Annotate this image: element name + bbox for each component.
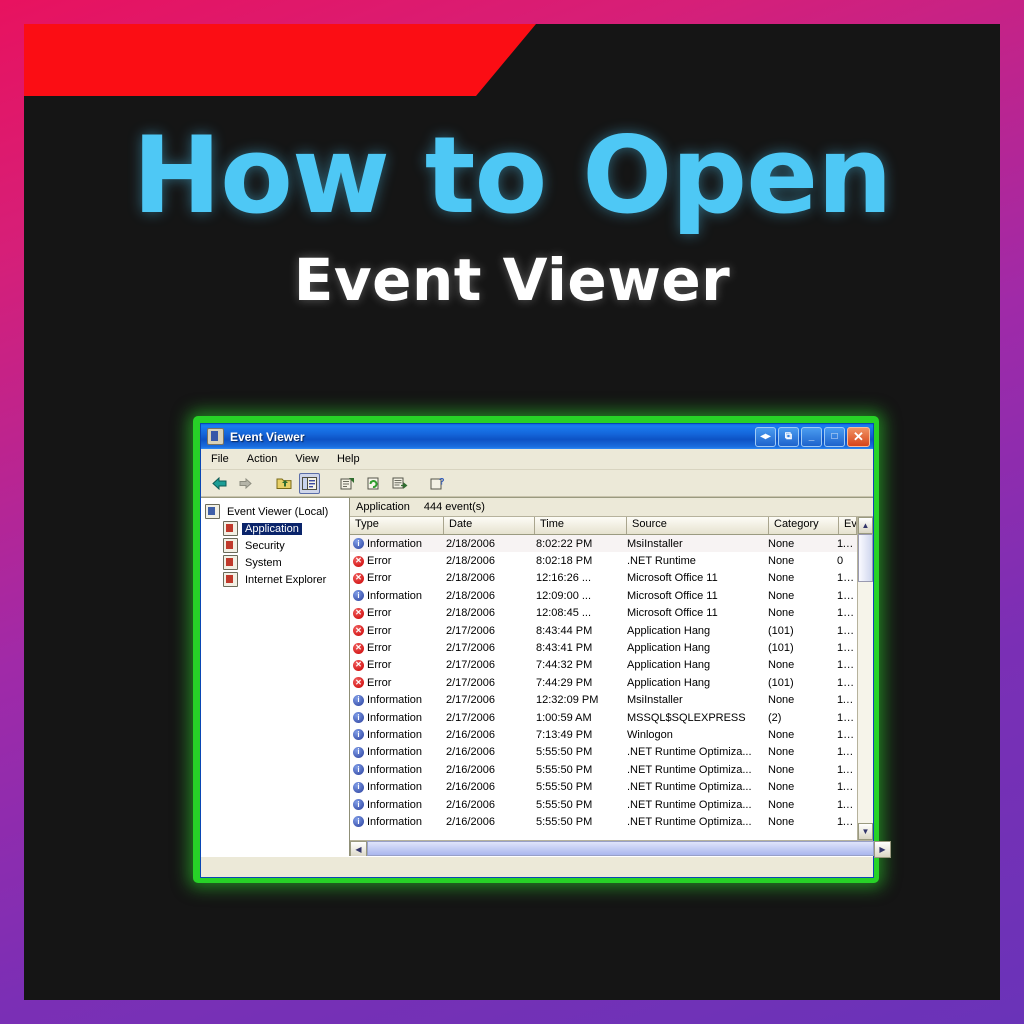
cell-time: 7:44:32 PM	[531, 659, 622, 671]
cell-source: MSSQL$SQLEXPRESS	[622, 712, 763, 724]
log-icon	[223, 538, 238, 553]
cell-event: 1002	[832, 625, 857, 637]
error-icon: ✕	[353, 643, 364, 654]
cell-time: 8:43:44 PM	[531, 625, 622, 637]
cell-event: 1001	[832, 590, 857, 602]
poster-inner-panel: Multicaretechnical.com How to Open Event…	[24, 24, 1000, 1000]
cell-category: None	[763, 590, 832, 602]
cell-category: None	[763, 799, 832, 811]
cell-source: Winlogon	[622, 729, 763, 741]
window-titlebar[interactable]: Event Viewer ◂▸ ⧉ _ □ ✕	[201, 424, 873, 449]
cell-date: 2/17/2006	[441, 642, 531, 654]
vertical-scroll-thumb[interactable]	[858, 534, 873, 582]
table-row[interactable]: iInformation2/16/20065:55:50 PM.NET Runt…	[350, 744, 857, 761]
error-icon: ✕	[353, 573, 364, 584]
cell-source: .NET Runtime Optimiza...	[622, 781, 763, 793]
cell-category: None	[763, 607, 832, 619]
cell-time: 5:55:50 PM	[531, 799, 622, 811]
cell-event: 1001	[832, 659, 857, 671]
forward-arrow-icon	[235, 473, 256, 494]
column-header-type[interactable]: Type	[350, 517, 444, 534]
cell-type-label: Error	[367, 677, 391, 689]
cell-type-label: Information	[367, 590, 422, 602]
cell-event: 1102	[832, 764, 857, 776]
cell-source: .NET Runtime Optimiza...	[622, 799, 763, 811]
column-header-date[interactable]: Date	[444, 517, 535, 534]
cell-category: (101)	[763, 642, 832, 654]
cell-type-label: Information	[367, 712, 422, 724]
cell-time: 5:55:50 PM	[531, 781, 622, 793]
cell-type: iInformation	[350, 746, 441, 758]
information-icon: i	[353, 695, 364, 706]
cell-source: Application Hang	[622, 677, 763, 689]
svg-text:?: ?	[439, 477, 445, 487]
menu-item-view[interactable]: View	[295, 453, 319, 465]
scroll-right-arrow-icon[interactable]: ▶	[874, 841, 891, 858]
cell-event: 1102	[832, 799, 857, 811]
cell-type-label: Information	[367, 781, 422, 793]
cell-time: 12:08:45 ...	[531, 607, 622, 619]
show-tree-icon[interactable]	[299, 473, 320, 494]
cell-source: MsiInstaller	[622, 538, 763, 550]
error-icon: ✕	[353, 608, 364, 619]
menu-item-help[interactable]: Help	[337, 453, 360, 465]
cell-time: 12:09:00 ...	[531, 590, 622, 602]
table-row[interactable]: iInformation2/16/20065:55:50 PM.NET Runt…	[350, 813, 857, 830]
cell-date: 2/17/2006	[441, 712, 531, 724]
console-root-icon	[205, 504, 220, 519]
table-row[interactable]: iInformation2/16/20067:13:49 PMWinlogonN…	[350, 726, 857, 743]
cell-event: 1000	[832, 607, 857, 619]
list-with-scrollbar: Type Date Time Source Category Event iIn…	[350, 517, 873, 840]
restore-child-button[interactable]: ◂▸	[755, 427, 776, 447]
cell-date: 2/18/2006	[441, 572, 531, 584]
cell-type: ✕Error	[350, 607, 441, 619]
cell-source: .NET Runtime Optimiza...	[622, 764, 763, 776]
column-header-event[interactable]: Event	[839, 517, 857, 534]
cell-date: 2/16/2006	[441, 746, 531, 758]
menu-item-action[interactable]: Action	[247, 453, 278, 465]
cell-source: Microsoft Office 11	[622, 572, 763, 584]
scroll-up-arrow-icon[interactable]: ▲	[858, 517, 873, 534]
cell-category: None	[763, 746, 832, 758]
cell-type: iInformation	[350, 538, 441, 550]
cell-source: Microsoft Office 11	[622, 607, 763, 619]
console-tree: Event Viewer (Local) Application Securit…	[201, 498, 350, 856]
list-caption-count: 444 event(s)	[424, 501, 485, 513]
cell-event: 17403	[832, 712, 857, 724]
cell-category: (101)	[763, 625, 832, 637]
cell-source: Application Hang	[622, 642, 763, 654]
cell-type: iInformation	[350, 816, 441, 828]
table-row[interactable]: iInformation2/18/20068:02:22 PMMsiInstal…	[350, 535, 857, 552]
table-row[interactable]: ✕Error2/17/20067:44:29 PMApplication Han…	[350, 674, 857, 691]
table-row[interactable]: iInformation2/17/20061:00:59 AMMSSQL$SQL…	[350, 709, 857, 726]
cell-type: ✕Error	[350, 642, 441, 654]
page-title: How to Open	[24, 120, 1000, 231]
cell-time: 12:32:09 PM	[531, 694, 622, 706]
cell-date: 2/16/2006	[441, 816, 531, 828]
status-bar	[201, 856, 873, 877]
close-button[interactable]: ✕	[847, 427, 870, 447]
cell-type-label: Error	[367, 625, 391, 637]
cell-category: None	[763, 538, 832, 550]
maximize-button[interactable]: □	[824, 427, 845, 447]
event-rows: iInformation2/18/20068:02:22 PMMsiInstal…	[350, 535, 857, 840]
cell-type-label: Error	[367, 572, 391, 584]
cell-type: iInformation	[350, 694, 441, 706]
table-row[interactable]: ✕Error2/17/20068:43:41 PMApplication Han…	[350, 639, 857, 656]
cell-date: 2/16/2006	[441, 729, 531, 741]
horizontal-scroll-thumb[interactable]	[367, 841, 874, 856]
menu-bar: File Action View Help	[201, 449, 873, 470]
cell-source: Microsoft Office 11	[622, 590, 763, 602]
vertical-scrollbar[interactable]: ▲ ▼	[857, 517, 873, 840]
properties-icon[interactable]	[337, 473, 358, 494]
cell-event: 1002	[832, 729, 857, 741]
table-row[interactable]: ✕Error2/17/20068:43:44 PMApplication Han…	[350, 622, 857, 639]
cell-type-label: Information	[367, 816, 422, 828]
cell-source: .NET Runtime Optimiza...	[622, 816, 763, 828]
cell-type-label: Information	[367, 729, 422, 741]
cell-category: None	[763, 781, 832, 793]
cell-type-label: Information	[367, 799, 422, 811]
help-icon[interactable]: ?	[427, 473, 448, 494]
cell-type-label: Error	[367, 659, 391, 671]
tree-node-security-label: Security	[242, 540, 288, 552]
refresh-icon[interactable]	[363, 473, 384, 494]
table-row[interactable]: ✕Error2/18/20068:02:18 PM.NET RuntimeNon…	[350, 552, 857, 569]
cell-time: 5:55:50 PM	[531, 816, 622, 828]
cell-type-label: Information	[367, 746, 422, 758]
error-icon: ✕	[353, 677, 364, 688]
cell-event: 1000	[832, 572, 857, 584]
cell-event: 1002	[832, 677, 857, 689]
cell-category: None	[763, 694, 832, 706]
cell-source: .NET Runtime	[622, 555, 763, 567]
site-banner	[24, 24, 536, 96]
tree-node-system[interactable]: System	[205, 554, 349, 571]
cell-date: 2/17/2006	[441, 677, 531, 689]
back-arrow-icon[interactable]	[209, 473, 230, 494]
cell-date: 2/17/2006	[441, 625, 531, 637]
cell-category: (101)	[763, 677, 832, 689]
information-icon: i	[353, 538, 364, 549]
vertical-scroll-track[interactable]	[858, 582, 873, 823]
toolbar: ?	[201, 470, 873, 497]
column-header-source[interactable]: Source	[627, 517, 769, 534]
cell-event: 11728	[832, 538, 857, 550]
cell-type-label: Information	[367, 764, 422, 776]
information-icon: i	[353, 747, 364, 758]
log-icon	[223, 572, 238, 587]
information-icon: i	[353, 712, 364, 723]
cell-date: 2/16/2006	[441, 764, 531, 776]
cell-event: 1104	[832, 746, 857, 758]
cell-event: 1100	[832, 816, 857, 828]
cell-source: .NET Runtime Optimiza...	[622, 746, 763, 758]
cell-event: 11707	[832, 694, 857, 706]
column-header-row: Type Date Time Source Category Event	[350, 517, 857, 535]
cell-time: 1:00:59 AM	[531, 712, 622, 724]
information-icon: i	[353, 782, 364, 793]
table-row[interactable]: ✕Error2/17/20067:44:32 PMApplication Han…	[350, 657, 857, 674]
cell-date: 2/18/2006	[441, 555, 531, 567]
error-icon: ✕	[353, 660, 364, 671]
cell-category: (2)	[763, 712, 832, 724]
event-list-pane: Application 444 event(s) Type Date Time …	[350, 498, 873, 856]
cell-event: 1002	[832, 642, 857, 654]
page-subtitle: Event Viewer	[24, 246, 1000, 314]
information-icon: i	[353, 799, 364, 810]
cell-date: 2/17/2006	[441, 694, 531, 706]
window-body: Event Viewer (Local) Application Securit…	[201, 497, 873, 856]
cell-type: iInformation	[350, 729, 441, 741]
event-viewer-window: Event Viewer ◂▸ ⧉ _ □ ✕ File Action View…	[200, 423, 874, 878]
window-controls: ◂▸ ⧉ _ □ ✕	[755, 427, 870, 447]
cell-date: 2/16/2006	[441, 781, 531, 793]
cell-type-label: Error	[367, 607, 391, 619]
cell-time: 8:02:18 PM	[531, 555, 622, 567]
information-icon: i	[353, 764, 364, 775]
tree-node-internet-explorer[interactable]: Internet Explorer	[205, 571, 349, 588]
tree-node-root[interactable]: Event Viewer (Local)	[205, 503, 349, 520]
cell-type: iInformation	[350, 799, 441, 811]
cell-source: Application Hang	[622, 659, 763, 671]
cell-time: 7:13:49 PM	[531, 729, 622, 741]
cell-time: 8:43:41 PM	[531, 642, 622, 654]
cell-category: None	[763, 555, 832, 567]
cell-type: iInformation	[350, 764, 441, 776]
cell-type-label: Error	[367, 555, 391, 567]
cell-time: 7:44:29 PM	[531, 677, 622, 689]
information-icon: i	[353, 590, 364, 601]
tree-node-security[interactable]: Security	[205, 537, 349, 554]
cell-time: 8:02:22 PM	[531, 538, 622, 550]
cell-type-label: Information	[367, 538, 422, 550]
tree-node-root-label: Event Viewer (Local)	[224, 506, 331, 518]
table-row[interactable]: ✕Error2/18/200612:16:26 ...Microsoft Off…	[350, 570, 857, 587]
cell-type-label: Information	[367, 694, 422, 706]
cell-type: ✕Error	[350, 677, 441, 689]
cell-type: ✕Error	[350, 555, 441, 567]
cell-category: None	[763, 764, 832, 776]
cell-date: 2/18/2006	[441, 607, 531, 619]
cell-time: 12:16:26 ...	[531, 572, 622, 584]
cell-type: iInformation	[350, 781, 441, 793]
list-caption-name: Application	[356, 501, 410, 513]
table-row[interactable]: iInformation2/16/20065:55:50 PM.NET Runt…	[350, 761, 857, 778]
cell-time: 5:55:50 PM	[531, 746, 622, 758]
log-icon	[223, 555, 238, 570]
cell-category: None	[763, 729, 832, 741]
cell-date: 2/16/2006	[441, 799, 531, 811]
minimize-button[interactable]: _	[801, 427, 822, 447]
cell-event: 1100	[832, 781, 857, 793]
cell-type: ✕Error	[350, 572, 441, 584]
cell-source: Application Hang	[622, 625, 763, 637]
cell-type-label: Error	[367, 642, 391, 654]
error-icon: ✕	[353, 556, 364, 567]
cell-event: 0	[832, 555, 857, 567]
error-icon: ✕	[353, 625, 364, 636]
cell-date: 2/18/2006	[441, 538, 531, 550]
cell-category: None	[763, 659, 832, 671]
information-icon: i	[353, 729, 364, 740]
information-icon: i	[353, 816, 364, 827]
cell-category: None	[763, 816, 832, 828]
horizontal-scrollbar[interactable]: ◀ ▶	[350, 840, 873, 856]
tree-node-system-label: System	[242, 557, 285, 569]
cell-time: 5:55:50 PM	[531, 764, 622, 776]
window-title: Event Viewer	[230, 430, 304, 444]
cell-type: ✕Error	[350, 659, 441, 671]
scroll-down-arrow-icon[interactable]: ▼	[858, 823, 873, 840]
cell-type: iInformation	[350, 712, 441, 724]
tree-node-internet-explorer-label: Internet Explorer	[242, 574, 329, 586]
cell-category: None	[763, 572, 832, 584]
tree-node-application[interactable]: Application	[205, 520, 349, 537]
table-row[interactable]: ✕Error2/18/200612:08:45 ...Microsoft Off…	[350, 605, 857, 622]
tree-node-application-label: Application	[242, 523, 302, 535]
table-row[interactable]: iInformation2/18/200612:09:00 ...Microso…	[350, 587, 857, 604]
list-caption: Application 444 event(s)	[350, 498, 873, 517]
poster: Multicaretechnical.com How to Open Event…	[0, 0, 1024, 1024]
cell-date: 2/17/2006	[441, 659, 531, 671]
column-header-time[interactable]: Time	[535, 517, 627, 534]
table-row[interactable]: iInformation2/17/200612:32:09 PMMsiInsta…	[350, 692, 857, 709]
cell-type: ✕Error	[350, 625, 441, 637]
cell-date: 2/18/2006	[441, 590, 531, 602]
event-viewer-icon	[207, 428, 224, 445]
table-row[interactable]: iInformation2/16/20065:55:50 PM.NET Runt…	[350, 796, 857, 813]
menu-item-file[interactable]: File	[211, 453, 229, 465]
column-header-category[interactable]: Category	[769, 517, 839, 534]
cell-source: MsiInstaller	[622, 694, 763, 706]
export-list-icon[interactable]	[389, 473, 410, 494]
table-row[interactable]: iInformation2/16/20065:55:50 PM.NET Runt…	[350, 778, 857, 795]
up-folder-icon[interactable]	[273, 473, 294, 494]
cell-type: iInformation	[350, 590, 441, 602]
log-icon	[223, 521, 238, 536]
maximize-child-button[interactable]: ⧉	[778, 427, 799, 447]
